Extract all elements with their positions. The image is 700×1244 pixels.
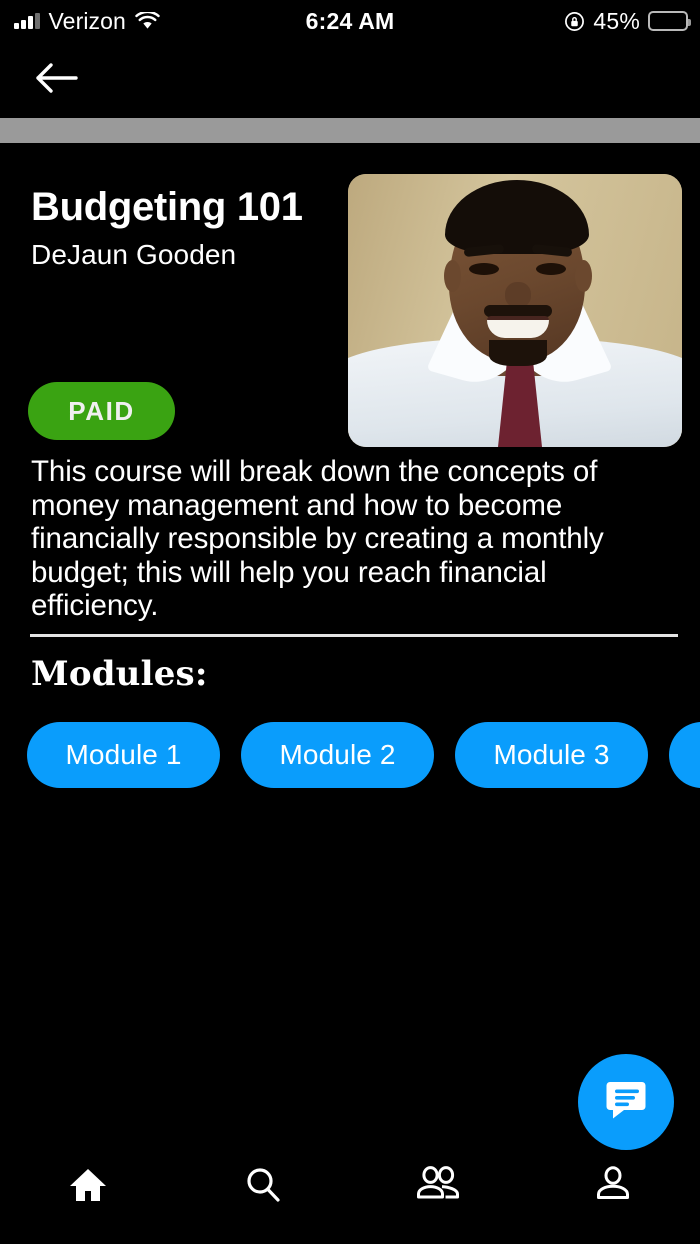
page-title: Budgeting 101 [31, 185, 303, 230]
module-button[interactable]: Module 3 [455, 722, 648, 788]
back-arrow-icon [34, 61, 78, 100]
module-button[interactable]: Module 2 [241, 722, 434, 788]
people-group-icon [415, 1166, 461, 1207]
battery-icon [648, 11, 688, 31]
chat-bubble-icon [603, 1078, 649, 1127]
app-screen: Verizon 6:24 AM 45% [0, 0, 700, 1244]
back-button[interactable] [28, 54, 84, 106]
modules-heading: Modules: [31, 654, 208, 694]
instructor-name: DeJaun Gooden [31, 239, 236, 271]
course-description: This course will break down the concepts… [31, 455, 621, 623]
status-bar: Verizon 6:24 AM 45% [0, 0, 700, 42]
module-button-label: Module 3 [494, 739, 610, 771]
bottom-navigation-bar [0, 1150, 700, 1244]
module-button[interactable]: Module 1 [27, 722, 220, 788]
status-badge-label: PAID [68, 396, 135, 427]
status-badge: PAID [28, 382, 175, 440]
nav-item-profile[interactable] [525, 1150, 700, 1244]
person-profile-icon [594, 1166, 632, 1207]
course-header: Budgeting 101 DeJaun Gooden PAID [0, 143, 700, 455]
instructor-portrait [348, 174, 682, 447]
nav-item-people[interactable] [350, 1150, 525, 1244]
chat-fab-button[interactable] [578, 1054, 674, 1150]
module-button-label: Module 2 [280, 739, 396, 771]
nav-item-home[interactable] [0, 1150, 175, 1244]
rotation-lock-icon [564, 11, 585, 32]
top-nav-bar [0, 42, 700, 118]
home-icon [68, 1166, 108, 1209]
battery-percent-label: 45% [593, 8, 640, 35]
section-divider [30, 634, 678, 637]
modules-list[interactable]: Module 1 Module 2 Module 3 Module 4 [0, 722, 700, 788]
module-button-label: Module 1 [66, 739, 182, 771]
status-bar-right: 45% [564, 8, 688, 35]
nav-item-search[interactable] [175, 1150, 350, 1244]
module-button[interactable]: Module 4 [669, 722, 700, 788]
search-icon [244, 1166, 282, 1209]
header-separator-bar [0, 118, 700, 143]
